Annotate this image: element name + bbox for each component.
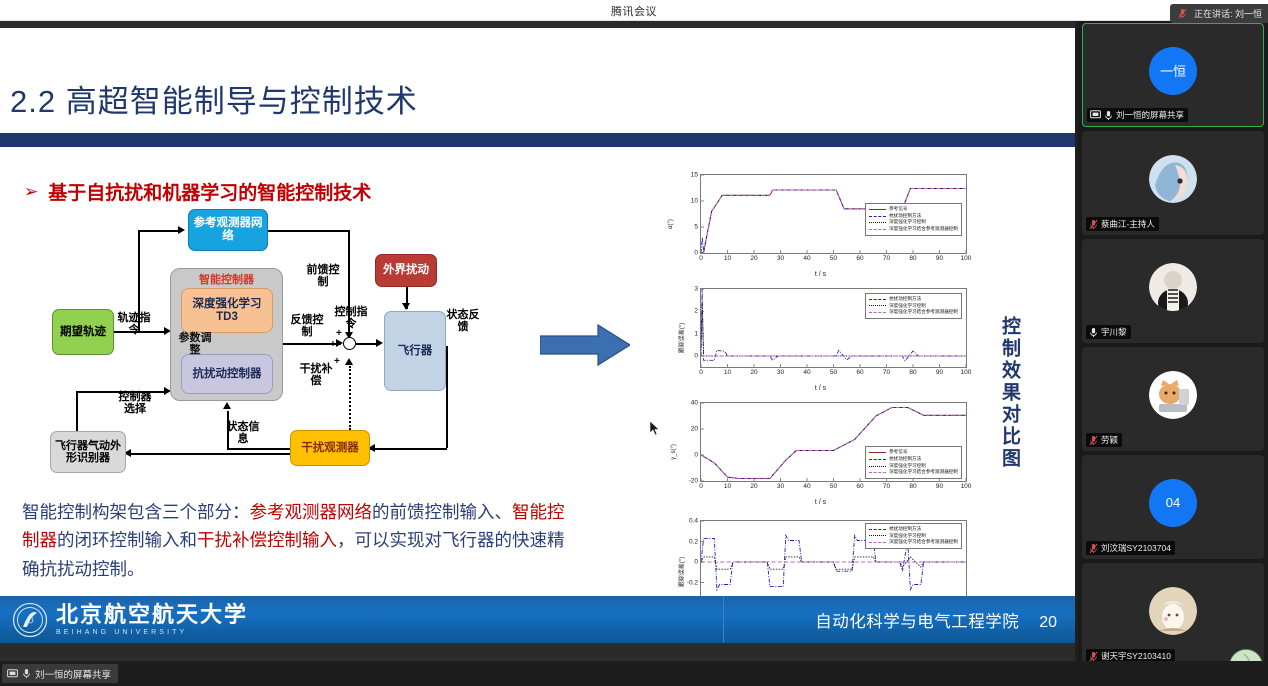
- summation-node: [343, 337, 356, 350]
- legend-item: 深度强化学习结合参考观测器控制: [869, 309, 958, 316]
- screen-share-icon: [7, 669, 18, 679]
- mic-muted-icon: [1089, 435, 1098, 446]
- line-vehicle-state-down: [446, 346, 448, 448]
- y-tick-label: 0: [694, 250, 698, 257]
- x-tick-label: 100: [961, 369, 972, 376]
- legend-label: 深度强化学习结合参考观测器控制: [889, 469, 958, 476]
- y-axis-label: γ_s(°): [671, 444, 677, 460]
- mic-muted-icon: [1089, 219, 1098, 230]
- participant-name-badge: 蔡曲江-主持人: [1086, 217, 1159, 231]
- chart-legend: 抗扰动控制方法深度强化学习控制深度强化学习结合参考观测器控制: [865, 523, 962, 549]
- line-to-reference-observer: [138, 230, 180, 232]
- speaking-indicator: 正在讲话: 刘一恒: [1170, 4, 1268, 23]
- mic-icon: [1089, 327, 1098, 338]
- plus-sign-disturbance: +: [334, 356, 340, 367]
- participant-tile[interactable]: 宇川黎: [1082, 239, 1264, 343]
- comparison-charts: 0102030405060708090100051015参考信号抗扰动控制方法深…: [668, 168, 978, 630]
- footer-right: 自动化科学与电气工程学院 20: [815, 608, 1057, 632]
- window-title-bar: 腾讯会议 ✕: [0, 0, 1268, 21]
- x-tick-label: 20: [750, 369, 757, 376]
- avatar: [1149, 155, 1197, 203]
- series-line: [701, 557, 966, 569]
- participant-name-badge: 刘一恒的屏幕共享: [1087, 108, 1188, 122]
- legend-item: 深度强化学习结合参考观测器控制: [869, 469, 958, 476]
- legend-label: 深度强化学习结合参考观测器控制: [889, 226, 958, 233]
- y-tick-label: -0.2: [687, 579, 698, 586]
- avatar: 一恒: [1149, 47, 1197, 95]
- x-tick-label: 50: [830, 483, 837, 490]
- x-tick-label: 40: [803, 483, 810, 490]
- label-feedforward-control: 前馈控制: [306, 264, 340, 289]
- node-external-disturbance: 外界扰动: [375, 254, 437, 287]
- y-tick-label: 1: [694, 330, 698, 337]
- taskbar-share-label: 刘一恒的屏幕共享: [35, 667, 111, 681]
- chart-gamma-plot: 0102030405060708090100-2002040参考信号抗扰动控制方…: [700, 402, 967, 482]
- y-axis-label: α(°): [668, 219, 674, 229]
- x-tick-label: 20: [750, 255, 757, 262]
- arrow-state-info-to-controller: [223, 402, 231, 409]
- label-trajectory-command: 轨迹指令: [117, 312, 151, 337]
- x-tick-label: 40: [803, 369, 810, 376]
- legend-label: 参考信号: [889, 206, 907, 213]
- chart-legend: 抗扰动控制方法深度强化学习控制深度强化学习结合参考观测器控制: [865, 293, 962, 319]
- participant-tile[interactable]: 04刘汶瑞SY2103704: [1082, 455, 1264, 559]
- y-tick-label: 2: [694, 308, 698, 315]
- avatar: 04: [1149, 479, 1197, 527]
- x-tick-label: 0: [699, 369, 703, 376]
- x-tick-label: 30: [777, 369, 784, 376]
- x-tick-label: 10: [724, 255, 731, 262]
- x-tick-label: 60: [856, 483, 863, 490]
- chart-alpha: 0102030405060708090100051015参考信号抗扰动控制方法深…: [668, 168, 973, 280]
- avatar-image: [1149, 371, 1197, 419]
- department-name: 自动化科学与电气工程学院: [815, 608, 1019, 632]
- x-tick-label: 10: [724, 483, 731, 490]
- arrow-dob-into-sum: [345, 358, 353, 365]
- legend-swatch: [869, 305, 886, 306]
- x-tick-label: 80: [909, 483, 916, 490]
- x-tick-label: 60: [856, 255, 863, 262]
- y-axis-label: 跟踪误差(°): [677, 323, 686, 353]
- y-axis-label: 跟踪误差(°): [677, 557, 686, 587]
- label-state-feedback: 状态反馈: [446, 309, 480, 334]
- legend-label: 深度强化学习结合参考观测器控制: [889, 309, 958, 316]
- line-identifier-up: [76, 391, 78, 431]
- y-tick-label: 20: [691, 426, 698, 433]
- node-shape-identifier: 飞行器气动外形识别器: [50, 431, 126, 473]
- participant-tile[interactable]: 蔡曲江-主持人: [1082, 131, 1264, 235]
- legend-label: 抗扰动控制方法: [889, 456, 921, 463]
- x-tick-label: 0: [699, 255, 703, 262]
- paragraph-seg-1: 智能控制构架包含三个部分：: [22, 502, 250, 522]
- legend-label: 深度强化学习结合参考观测器控制: [889, 539, 958, 546]
- label-state-info: 状态信息: [226, 421, 260, 446]
- legend-label: 抗扰动控制方法: [889, 296, 921, 303]
- legend-swatch: [869, 459, 886, 460]
- chart-legend: 参考信号抗扰动控制方法深度强化学习控制深度强化学习结合参考观测器控制: [865, 203, 962, 236]
- slide-page-number: 20: [1039, 614, 1057, 632]
- node-intelligent-controller-label: 智能控制器: [171, 274, 282, 286]
- legend-swatch: [869, 542, 886, 543]
- legend-swatch: [869, 535, 886, 536]
- meeting-window: 腾讯会议 ✕ 2.2 高超智能制导与控制技术 ➢ 基于自抗扰和机器学习的智能控制…: [0, 0, 1268, 686]
- beihang-emblem-icon: [12, 602, 48, 638]
- screen-share-icon: [1090, 110, 1101, 120]
- y-tick-label: -20: [689, 478, 698, 485]
- y-tick-label: 0: [694, 352, 698, 359]
- y-tick-label: 0: [694, 452, 698, 459]
- avatar: [1149, 263, 1197, 311]
- shared-screen-stage: 2.2 高超智能制导与控制技术 ➢ 基于自抗扰和机器学习的智能控制技术: [0, 21, 1075, 661]
- legend-item: 抗扰动控制方法: [869, 296, 958, 303]
- university-name-cn: 北京航空航天大学: [56, 604, 248, 626]
- legend-swatch: [869, 472, 886, 473]
- avatar-image: [1149, 587, 1197, 635]
- window-title: 腾讯会议: [0, 3, 1268, 19]
- node-disturbance-observer: 干扰观测器: [290, 430, 370, 466]
- legend-label: 抗扰动控制方法: [889, 526, 921, 533]
- legend-swatch: [869, 229, 886, 230]
- y-tick-label: 5: [694, 224, 698, 231]
- x-tick-label: 10: [724, 369, 731, 376]
- legend-item: 深度强化学习结合参考观测器控制: [869, 539, 958, 546]
- x-tick-label: 50: [830, 369, 837, 376]
- participant-tile[interactable]: 劳颖: [1082, 347, 1264, 451]
- y-tick-label: 0.2: [689, 538, 698, 545]
- bullet-arrow-icon: ➢: [24, 183, 38, 200]
- x-tick-label: 90: [936, 255, 943, 262]
- x-tick-label: 70: [883, 483, 890, 490]
- mic-icon: [1104, 110, 1113, 121]
- taskbar-share-item[interactable]: 刘一恒的屏幕共享: [2, 664, 118, 683]
- x-tick-label: 100: [961, 483, 972, 490]
- legend-item: 抗扰动控制方法: [869, 456, 958, 463]
- participant-name: 劳颖: [1101, 434, 1118, 446]
- page-title: 2.2 高超智能制导与控制技术: [10, 76, 418, 121]
- x-tick-label: 80: [909, 369, 916, 376]
- speaking-indicator-label: 正在讲话: 刘一恒: [1194, 7, 1262, 20]
- participant-name: 宇川黎: [1101, 326, 1127, 338]
- legend-swatch: [869, 466, 886, 467]
- x-tick-label: 80: [909, 255, 916, 262]
- label-controller-select: 控制器选择: [118, 391, 152, 416]
- y-tick-label: 40: [691, 400, 698, 407]
- y-tick-label: 10: [691, 198, 698, 205]
- legend-swatch: [869, 529, 886, 530]
- node-adrc: 抗扰动控制器: [181, 354, 273, 394]
- plus-sign-feedback: +: [330, 339, 336, 350]
- chart-alpha-plot: 0102030405060708090100051015参考信号抗扰动控制方法深…: [700, 174, 967, 254]
- taskbar: 刘一恒的屏幕共享: [0, 661, 1268, 686]
- chart-alpha-error-plot: 01020304050607080901000123抗扰动控制方法深度强化学习控…: [700, 288, 967, 368]
- node-vehicle: 飞行器: [384, 311, 446, 391]
- node-reference-observer: 参考观测器网络: [188, 209, 268, 251]
- y-tick-label: 0: [694, 559, 698, 566]
- bullet-heading-label: 基于自抗扰和机器学习的智能控制技术: [48, 178, 371, 205]
- legend-item: 抗扰动控制方法: [869, 526, 958, 533]
- participant-name-badge: 劳颖: [1086, 433, 1122, 447]
- legend-item: 深度强化学习结合参考观测器控制: [869, 226, 958, 233]
- label-disturbance-compensation: 干扰补偿: [299, 363, 333, 388]
- participant-tile[interactable]: 一恒刘一恒的屏幕共享: [1082, 23, 1264, 127]
- x-tick-label: 20: [750, 483, 757, 490]
- x-tick-label: 70: [883, 255, 890, 262]
- line-state-info-in: [227, 448, 291, 450]
- label-feedback-control: 反馈控制: [290, 314, 324, 339]
- y-tick-label: 15: [691, 172, 698, 179]
- x-tick-label: 70: [883, 369, 890, 376]
- line-refobs-out: [268, 230, 349, 232]
- arrow-to-reference-observer: [178, 226, 185, 234]
- charts-caption: 控制效果对比图: [996, 316, 1023, 470]
- chart-legend: 参考信号抗扰动控制方法深度强化学习控制深度强化学习结合参考观测器控制: [865, 446, 962, 479]
- chart-gamma-error-plot: 0102030405060708090100-0.4-0.200.20.4抗扰动…: [700, 520, 967, 604]
- presentation-slide: 2.2 高超智能制导与控制技术 ➢ 基于自抗扰和机器学习的智能控制技术: [0, 28, 1075, 643]
- footer-divider: [723, 596, 724, 643]
- y-tick-label: 3: [694, 286, 698, 293]
- x-axis-label: t / s: [668, 499, 973, 506]
- chart-gamma: 0102030405060708090100-2002040参考信号抗扰动控制方…: [668, 396, 973, 508]
- label-parameter-tuning: 参数调整: [178, 332, 212, 357]
- y-tick-label: 0.4: [689, 518, 698, 525]
- legend-swatch: [869, 216, 886, 217]
- paragraph-highlight-3: 干扰补偿控制输入: [197, 530, 337, 550]
- x-tick-label: 60: [856, 369, 863, 376]
- x-tick-label: 50: [830, 255, 837, 262]
- legend-swatch: [869, 222, 886, 223]
- summary-paragraph: 智能控制构架包含三个部分：参考观测器网络的前馈控制输入、智能控制器的闭环控制输入…: [22, 498, 567, 583]
- transition-arrow-icon: [540, 323, 630, 367]
- mic-icon: [22, 668, 31, 679]
- legend-item: 参考信号: [869, 206, 958, 213]
- participants-sidebar[interactable]: 一恒刘一恒的屏幕共享蔡曲江-主持人宇川黎劳颖04刘汶瑞SY2103704谢天宇S…: [1078, 21, 1268, 661]
- title-divider: [0, 133, 1075, 147]
- label-control-command: 控制指令: [334, 306, 368, 331]
- x-tick-label: 30: [777, 483, 784, 490]
- bullet-heading: ➢ 基于自抗扰和机器学习的智能控制技术: [24, 178, 371, 205]
- x-tick-label: 100: [961, 255, 972, 262]
- x-tick-label: 90: [936, 369, 943, 376]
- chart-alpha-error: 01020304050607080901000123抗扰动控制方法深度强化学习控…: [668, 282, 973, 394]
- slide-footer: 北京航空航天大学 BEIHANG UNIVERSITY 自动化科学与电气工程学院…: [0, 596, 1075, 643]
- university-name-en: BEIHANG UNIVERSITY: [56, 629, 248, 636]
- university-name: 北京航空航天大学 BEIHANG UNIVERSITY: [56, 604, 248, 636]
- avatar: [1149, 371, 1197, 419]
- avatar-image: [1149, 155, 1197, 203]
- mic-muted-icon: [1089, 543, 1098, 554]
- line-state-to-dob: [370, 448, 447, 450]
- paragraph-seg-3: 的闭环控制输入和: [57, 530, 197, 550]
- legend-swatch: [869, 209, 886, 210]
- mouse-cursor-icon: [650, 421, 660, 436]
- x-axis-label: t / s: [668, 271, 973, 278]
- legend-swatch: [869, 299, 886, 300]
- arrow-sum-to-vehicle: [376, 339, 383, 347]
- participant-name-badge: 刘汶瑞SY2103704: [1086, 541, 1175, 555]
- line-sum-to-vehicle: [356, 343, 378, 345]
- participant-name: 刘汶瑞SY2103704: [1101, 542, 1171, 554]
- x-axis-label: t / s: [668, 385, 973, 392]
- participant-name: 刘一恒的屏幕共享: [1116, 109, 1184, 121]
- avatar-image: [1149, 263, 1197, 311]
- arrow-disturb-to-vehicle: [402, 303, 410, 310]
- participant-name: 蔡曲江-主持人: [1101, 218, 1155, 230]
- node-desired-trajectory: 期望轨迹: [52, 309, 114, 355]
- x-tick-label: 40: [803, 255, 810, 262]
- avatar: [1149, 587, 1197, 635]
- mic-muted-icon: [1089, 651, 1098, 662]
- x-tick-label: 90: [936, 483, 943, 490]
- participant-name-badge: 宇川黎: [1086, 325, 1131, 339]
- legend-swatch: [869, 452, 886, 453]
- x-tick-label: 0: [699, 483, 703, 490]
- legend-swatch: [869, 312, 886, 313]
- arrow-feedback-into-sum: [336, 339, 343, 347]
- line-dob-compensation: [349, 366, 351, 430]
- paragraph-seg-2: 的前馈控制输入、: [372, 502, 512, 522]
- node-td3: 深度强化学习TD3: [181, 288, 273, 333]
- x-tick-label: 30: [777, 255, 784, 262]
- line-dob-to-identifier: [128, 453, 290, 455]
- mic-muted-icon: [1178, 8, 1187, 19]
- university-logo: 北京航空航天大学 BEIHANG UNIVERSITY: [0, 602, 248, 638]
- paragraph-highlight-1: 参考观测器网络: [250, 502, 373, 522]
